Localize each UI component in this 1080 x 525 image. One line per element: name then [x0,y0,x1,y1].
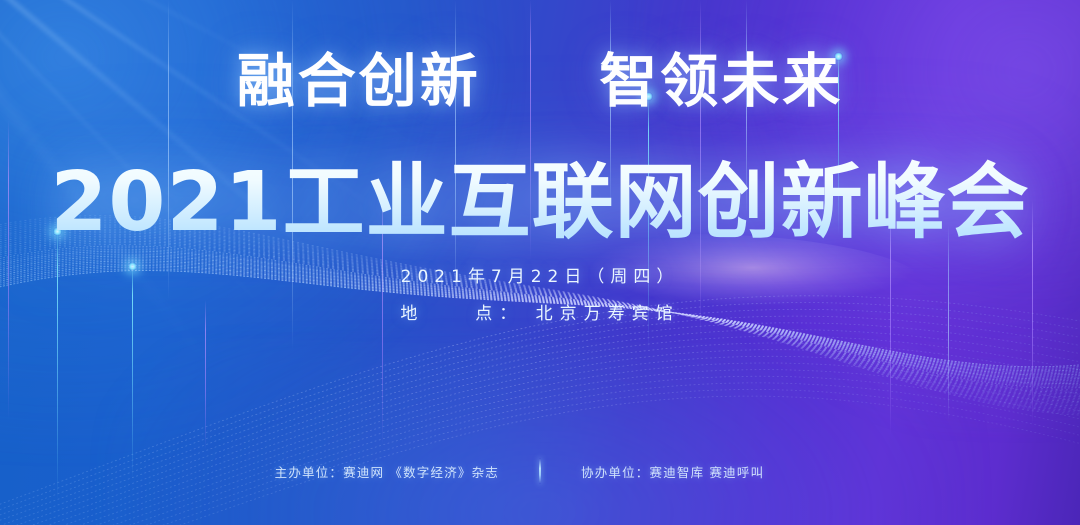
event-main-title: 2021工业互联网创新峰会 [0,135,1080,254]
wave-line [0,376,1080,525]
headline-right: 智领未来 [599,47,843,115]
venue-label-2: 点： [475,304,523,324]
host-organizations: 主办单位：赛迪网 《数字经济》杂志 [179,462,539,481]
venue-name: 北京万寿宾馆 [536,304,680,324]
wave-line [0,323,1080,525]
event-venue-line: 地 点： 北京万寿宾馆 [0,301,1080,327]
venue-label-1: 地 [400,304,424,324]
event-meta: 2021年7月22日（周四） 地 点： 北京万寿宾馆 [0,264,1080,327]
event-headline: 融合创新 智领未来 [0,34,1080,118]
wave-line [0,350,1080,525]
event-poster: 融合创新 智领未来 2021工业互联网创新峰会 2021年7月22日（周四） 地… [0,0,1080,525]
event-footer: 主办单位：赛迪网 《数字经济》杂志 协办单位：赛迪智库 赛迪呼叫 [0,458,1080,484]
cohost-organizations: 协办单位：赛迪智库 赛迪呼叫 [541,462,901,481]
wave-line [0,383,1080,525]
headline-left: 融合创新 [237,47,481,115]
wave-line [0,316,1080,520]
wave-line [0,330,1080,525]
event-date: 2021年7月22日（周四） [0,264,1080,290]
